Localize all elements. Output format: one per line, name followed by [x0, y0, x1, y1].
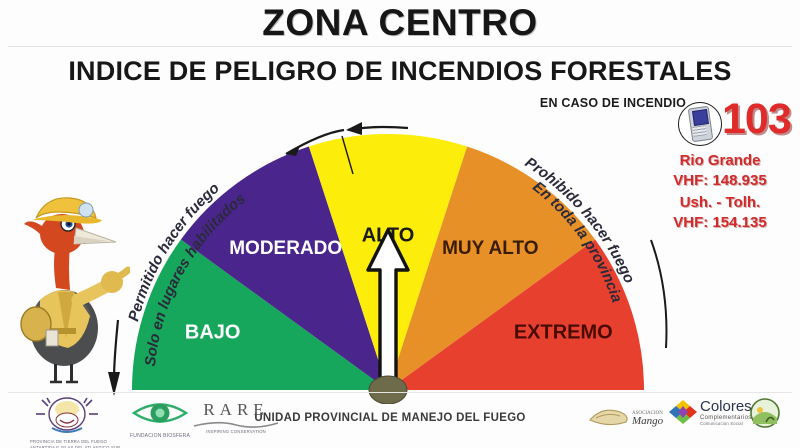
rare-caption: INSPIRING CONSERVATION [186, 429, 286, 435]
colores-complementarios-logo: Colores Complementarios Comunicacion Soc… [668, 398, 756, 427]
svg-text:Mango Park: Mango Park [631, 415, 666, 427]
emergency-number: 103 [722, 95, 791, 144]
poster-root: ZONA CENTRO INDICE DE PELIGRO DE INCENDI… [0, 0, 800, 448]
rare-wordmark: RARE [186, 400, 286, 420]
mobile-phone-keypad-icon [692, 125, 706, 137]
page-subtitle: INDICE DE PELIGRO DE INCENDIOS FORESTALE… [0, 56, 800, 87]
header-divider [8, 46, 792, 47]
provincia-seal-logo [748, 398, 788, 435]
gauge-label-muy-alto: MUY ALTO [442, 238, 538, 259]
right-down-arrow-icon [651, 240, 666, 348]
footer-caption: UNIDAD PROVINCIAL DE MANEJO DEL FUEGO [250, 412, 530, 424]
gauge-label-moderado: MODERADO [229, 238, 342, 259]
gauge-label-extremo: EXTREMO [514, 321, 613, 343]
rare-logo: RARE INSPIRING CONSERVATION [186, 400, 286, 435]
mango-park-logo: ASOCIACION Mango Park [586, 400, 666, 433]
mobile-phone-screen-icon [692, 109, 709, 126]
danger-index-gauge: BAJOMODERADOALTOMUY ALTOEXTREMO P [108, 108, 668, 404]
footer-divider [8, 392, 792, 393]
gauge-label-bajo: BAJO [185, 321, 241, 343]
tierra-del-fuego-crest-logo: PROVINCIA DE TIERRA DEL FUEGO ANTARTIDA … [30, 396, 104, 448]
firefighter-bird-mascot [12, 188, 130, 388]
gauge-hub [369, 376, 407, 404]
page-title: ZONA CENTRO [0, 2, 800, 44]
